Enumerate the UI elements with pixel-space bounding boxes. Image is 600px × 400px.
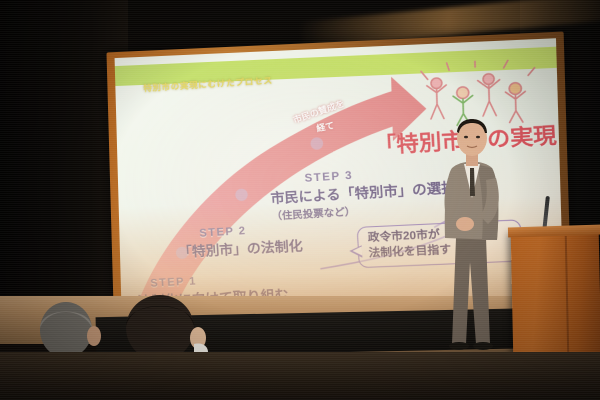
presenter-figure (432, 112, 516, 362)
step-3-block: STEP 3 市民による「特別市」の選択 （住民投票など） (269, 163, 457, 223)
wooden-podium (511, 231, 600, 359)
callout-bubble-tail-fill (352, 246, 362, 256)
screenshot-root: 特別市の実現にむけたプロセス 市民の賛成を 経 (0, 0, 600, 400)
step-2-block: STEP 2 「特別市」の法制化 (177, 222, 303, 261)
auditorium-foreground-floor (0, 352, 600, 400)
